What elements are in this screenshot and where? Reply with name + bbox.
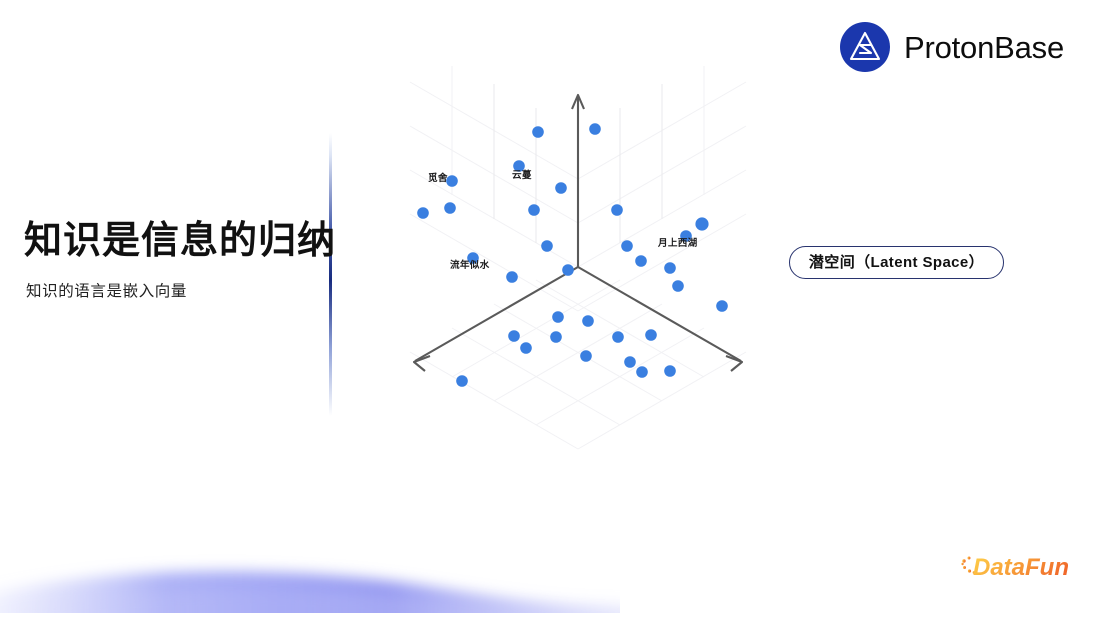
vertical-divider (329, 133, 332, 416)
scatter-point (417, 207, 429, 219)
scatter-point (456, 375, 468, 387)
scatter-point (695, 217, 708, 230)
scatter-point (716, 300, 728, 312)
scatter-point (508, 330, 520, 342)
scatter-point (446, 175, 458, 187)
datafun-wordmark: DataFun. (973, 554, 1068, 581)
headline-block: 知识是信息的归纳 知识的语言是嵌入向量 (24, 218, 324, 303)
scatter-point-label: 流年似水 (450, 259, 490, 271)
scatter-point (580, 350, 592, 362)
datafun-watermark: DataFun. (960, 550, 1068, 582)
scatter-point (664, 262, 676, 274)
scatter-point (582, 315, 594, 327)
latent-space-pill-label: 潜空间（Latent Space） (809, 255, 984, 270)
datafun-logo-icon: DataFun. (960, 550, 1068, 582)
scatter-point (528, 204, 540, 216)
wave-band-secondary (0, 590, 620, 613)
scatter-point (612, 331, 624, 343)
grid-plane-floor (410, 280, 746, 449)
axis-right-arrow (726, 356, 742, 371)
scatter-point (635, 255, 647, 267)
wave-band-primary (0, 571, 620, 613)
scatter-point (506, 271, 518, 283)
scatter-svg: 觅舍云蔓流年似水月上西湖 (390, 78, 770, 458)
latent-space-scatter-plot: 觅舍云蔓流年似水月上西湖 (390, 78, 770, 458)
scatter-point (645, 329, 657, 341)
scatter-point (672, 280, 684, 292)
grid-plane-right (578, 66, 746, 311)
protonbase-triangle-icon (840, 22, 890, 72)
scatter-point (636, 366, 648, 378)
scatter-point (541, 240, 553, 252)
scatter-point (520, 342, 532, 354)
axis-right (578, 267, 741, 361)
scatter-point (624, 356, 636, 368)
scatter-point (555, 182, 567, 194)
scatter-point (444, 202, 456, 214)
wave-svg (0, 533, 620, 613)
latent-space-pill[interactable]: 潜空间（Latent Space） (789, 246, 1004, 279)
page-title: 知识是信息的归纳 (24, 218, 324, 264)
axis-group (414, 95, 742, 371)
brand-logo: ProtonBase (840, 22, 1064, 72)
brand-name: ProtonBase (904, 32, 1064, 63)
scatter-point (562, 264, 574, 276)
scatter-point (611, 204, 623, 216)
scatter-point (550, 331, 562, 343)
scatter-point-label: 觅舍 (428, 172, 448, 184)
scatter-point (621, 240, 633, 252)
page-subtitle: 知识的语言是嵌入向量 (26, 282, 324, 302)
scatter-point (532, 126, 544, 138)
grid-plane-left (410, 66, 578, 311)
scatter-points-group (417, 123, 728, 387)
bottom-wave-decoration (0, 533, 620, 613)
scatter-point (664, 365, 676, 377)
scatter-point-label: 月上西湖 (657, 237, 698, 249)
scatter-point (589, 123, 601, 135)
axis-left-arrow (414, 356, 430, 371)
scatter-point (552, 311, 564, 323)
scatter-point-label: 云蔓 (512, 169, 532, 181)
